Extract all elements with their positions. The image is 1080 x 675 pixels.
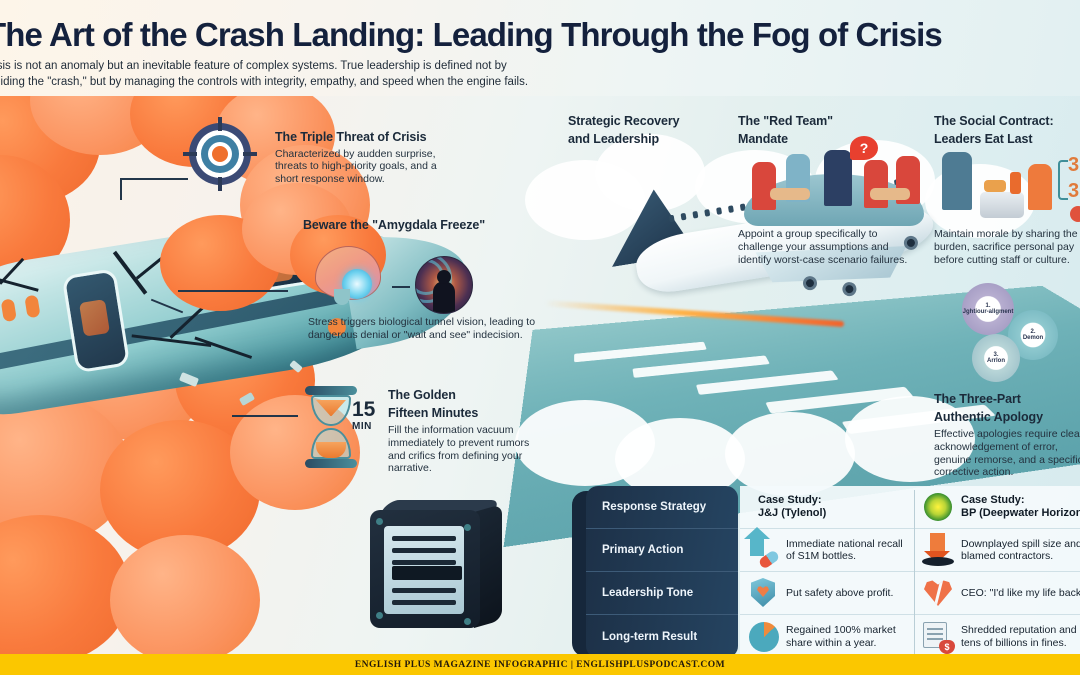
table-cell: Regained 100% market share within a year… (740, 615, 915, 658)
gear-label: Demon (1023, 335, 1043, 341)
block-title-line-1: The "Red Team" (738, 114, 923, 129)
table-cell-text: CEO: "I'd like my life back." (961, 587, 1080, 599)
comparison-table: Response Strategy Primary Action Leaders… (578, 486, 1080, 658)
tunnel-vision-icon (415, 256, 473, 314)
block-title-line-1: The Social Contract: (934, 114, 1080, 129)
arrow-down-spill-icon (921, 533, 955, 567)
meeting-people-icon: ? (740, 148, 930, 226)
footer-bar: ENGLISH PLUS MAGAZINE INFOGRAPHIC | ENGL… (0, 654, 1080, 675)
table-cell-text: Put safety above profit. (786, 587, 893, 599)
table-cell: Immediate national recall of S1M bottles… (740, 529, 915, 572)
subtitle-line-2: avoiding the "crash," but by managing th… (0, 75, 742, 91)
table-header-cell-bp: Case Study: BP (Deepwater Horizon) (915, 486, 1080, 529)
block-body: Stress triggers biological tunnel vision… (308, 316, 538, 342)
table-row-label: Leadership Tone (586, 572, 738, 615)
minutes-unit: MIN (352, 421, 372, 432)
bp-logo-icon (921, 490, 955, 524)
arrow-up-pill-icon (746, 533, 780, 567)
bracket-icon (1058, 160, 1068, 200)
pie-chart-icon (746, 620, 780, 654)
block-golden-fifteen: The Golden Fifteen Minutes Fill the info… (388, 388, 538, 475)
block-amygdala-freeze-title: Beware the "Amygdala Freeze" (303, 218, 543, 236)
gear-label: Jghtiour-allgment (963, 309, 1014, 315)
gear-number: 3. (993, 352, 998, 358)
leaders-eat-last-icon: 3 3 (936, 148, 1080, 226)
block-title-line-2: Fifteen Minutes (388, 406, 538, 421)
people-count-icon: 3 (1068, 154, 1079, 177)
target-icon (189, 123, 251, 185)
block-amygdala-freeze-body: Stress triggers biological tunnel vision… (308, 316, 538, 342)
block-title-line-1: The Golden (388, 388, 538, 403)
shield-heart-icon (746, 576, 780, 610)
table-cell-text: Downplayed spill size and blamed contrac… (961, 538, 1080, 563)
section-heading-line-2: and Leadership (568, 132, 728, 147)
block-body: Maintain morale by sharing the burden, s… (934, 228, 1080, 266)
block-body: Fill the information vacuum immediately … (388, 424, 538, 475)
page-subtitle: Crisis is not an anomaly but an inevitab… (0, 59, 742, 90)
table-cell-text: Shredded reputation and tens of billions… (961, 624, 1080, 649)
question-bubble-icon: ? (850, 136, 878, 160)
page-title: The Art of the Crash Landing: Leading Th… (0, 16, 1080, 54)
table-cell: Downplayed spill size and blamed contrac… (915, 529, 1080, 572)
block-title: Beware the "Amygdala Freeze" (303, 218, 543, 233)
table-row-label: Primary Action (586, 529, 738, 572)
hourglass-icon (303, 386, 359, 468)
gear-label: Arrlon (987, 358, 1005, 364)
column-header-line-1: Case Study: (961, 494, 1080, 507)
footer-text: ENGLISH PLUS MAGAZINE INFOGRAPHIC | ENGL… (355, 660, 725, 670)
connector-line (120, 178, 188, 180)
block-social-contract-body: Maintain morale by sharing the burden, s… (934, 228, 1080, 266)
connector-line (232, 415, 298, 417)
broken-heart-icon (921, 576, 955, 610)
column-header-line-2: J&J (Tylenol) (758, 507, 826, 520)
connector-line (392, 286, 410, 288)
subtitle-line-1: Crisis is not an anomaly but an inevitab… (0, 59, 742, 75)
table-header-cell-jj: Case Study: J&J (Tylenol) (740, 486, 915, 529)
block-body: Characterized by audden surprise, threat… (275, 148, 460, 186)
column-header-line-2: BP (Deepwater Horizon) (961, 507, 1080, 520)
table-row-label: Response Strategy (586, 486, 738, 529)
shredded-paper-money-icon: $ (921, 620, 955, 654)
block-body: Effective apologies require clear acknow… (934, 428, 1080, 479)
block-title-line-1: The Three-Part (934, 392, 1080, 407)
table-cell-text: Immediate national recall of S1M bottles… (786, 538, 909, 563)
gear-number: 2. (1030, 329, 1035, 335)
block-body: Appoint a group specifically to challeng… (738, 228, 923, 266)
people-count-icon: 3 (1068, 180, 1079, 203)
column-header-line-1: Case Study: (758, 494, 826, 507)
connector-line (178, 290, 288, 292)
table-cell: Put safety above profit. (740, 572, 915, 615)
infographic-canvas: The Art of the Crash Landing: Leading Th… (0, 0, 1080, 675)
block-authentic-apology: The Three-Part Authentic Apology Effecti… (934, 392, 1080, 479)
block-title-line-2: Authentic Apology (934, 410, 1080, 425)
gear-number: 1. (985, 303, 990, 309)
header: The Art of the Crash Landing: Leading Th… (0, 0, 1080, 96)
section-heading-strategic-recovery: Strategic Recovery and Leadership (568, 114, 728, 149)
block-triple-threat: The Triple Threat of Crisis Characterize… (275, 130, 460, 186)
table-cell-text: Regained 100% market share within a year… (786, 624, 909, 649)
black-box-recorder-icon (370, 500, 510, 638)
brain-freeze-icon (315, 246, 381, 300)
table-cell: $ Shredded reputation and tens of billio… (915, 615, 1080, 658)
minutes-number: 15 (352, 398, 375, 422)
table-row-label: Long-term Result (586, 615, 738, 658)
section-heading-line-1: Strategic Recovery (568, 114, 728, 129)
connector-line (120, 178, 122, 200)
table-cell: CEO: "I'd like my life back." (915, 572, 1080, 615)
alert-dot-icon (1070, 206, 1080, 222)
block-title: The Triple Threat of Crisis (275, 130, 460, 145)
block-red-team-body: Appoint a group specifically to challeng… (738, 228, 923, 266)
